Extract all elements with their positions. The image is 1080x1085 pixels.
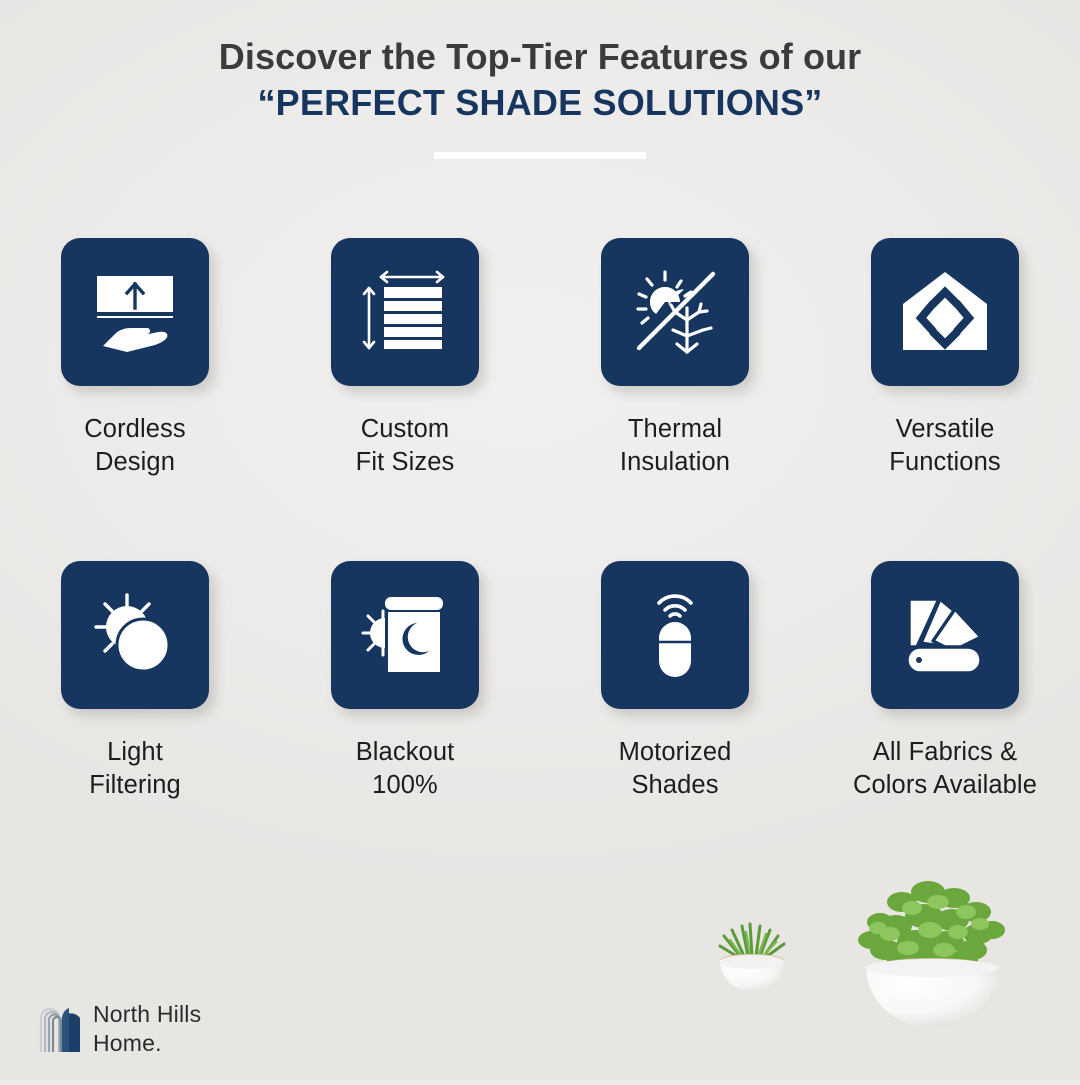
house-move-diamond-icon xyxy=(895,262,995,362)
poster-canvas: Discover the Top-Tier Features of our “P… xyxy=(0,0,1080,1080)
feature-label: All Fabrics & Colors Available xyxy=(853,736,1037,803)
feature-icon-tile[interactable] xyxy=(61,561,209,709)
feature-icon-tile[interactable] xyxy=(871,238,1019,386)
feature-thermal-insulation[interactable]: Thermal Insulation xyxy=(540,238,810,480)
feature-label: Thermal Insulation xyxy=(620,413,730,480)
potted-grass-plant xyxy=(720,924,784,992)
title-divider xyxy=(434,152,646,159)
brand-name: North Hills Home. xyxy=(93,1000,201,1058)
feature-versatile-functions[interactable]: Versatile Functions xyxy=(810,238,1080,480)
feature-label: Custom Fit Sizes xyxy=(356,413,455,480)
feature-icon-tile[interactable] xyxy=(331,238,479,386)
feature-label: Blackout 100% xyxy=(356,736,455,803)
feature-cordless-design[interactable]: Cordless Design xyxy=(0,238,270,480)
feature-icon-tile[interactable] xyxy=(871,561,1019,709)
page-title-line1: Discover the Top-Tier Features of our xyxy=(0,0,1080,78)
cordless-shade-hand-icon xyxy=(85,262,185,362)
shade-moon-sun-icon xyxy=(355,585,455,685)
potted-leafy-plant xyxy=(858,881,1005,1028)
sun-overlap-circle-icon xyxy=(85,585,185,685)
measure-blind-arrows-icon xyxy=(355,262,455,362)
feature-label: Motorized Shades xyxy=(619,736,732,803)
feature-grid-row-2: Light Filtering xyxy=(0,561,1080,803)
feature-label: Cordless Design xyxy=(84,413,185,480)
feature-light-filtering[interactable]: Light Filtering xyxy=(0,561,270,803)
feature-blackout-100[interactable]: Blackout 100% xyxy=(270,561,540,803)
feature-motorized-shades[interactable]: Motorized Shades xyxy=(540,561,810,803)
feature-all-fabrics-colors[interactable]: All Fabrics & Colors Available xyxy=(810,561,1080,803)
decorative-plants xyxy=(680,850,1080,1080)
arch-shade-logo-mark xyxy=(38,1002,82,1057)
feature-label: Light Filtering xyxy=(89,736,181,803)
page-title-line2: “PERFECT SHADE SOLUTIONS” xyxy=(0,78,1080,124)
feature-grid-row-1: Cordless Design xyxy=(0,238,1080,480)
brand-logo[interactable]: North Hills Home. xyxy=(38,1000,201,1058)
feature-icon-tile[interactable] xyxy=(331,561,479,709)
feature-icon-tile[interactable] xyxy=(601,238,749,386)
feature-icon-tile[interactable] xyxy=(601,561,749,709)
feature-icon-tile[interactable] xyxy=(61,238,209,386)
feature-custom-fit-sizes[interactable]: Custom Fit Sizes xyxy=(270,238,540,480)
sun-snowflake-icon xyxy=(625,262,725,362)
feature-label: Versatile Functions xyxy=(889,413,1000,480)
remote-signal-icon xyxy=(625,585,725,685)
header: Discover the Top-Tier Features of our “P… xyxy=(0,0,1080,159)
fabric-swatch-fan-icon xyxy=(895,585,995,685)
